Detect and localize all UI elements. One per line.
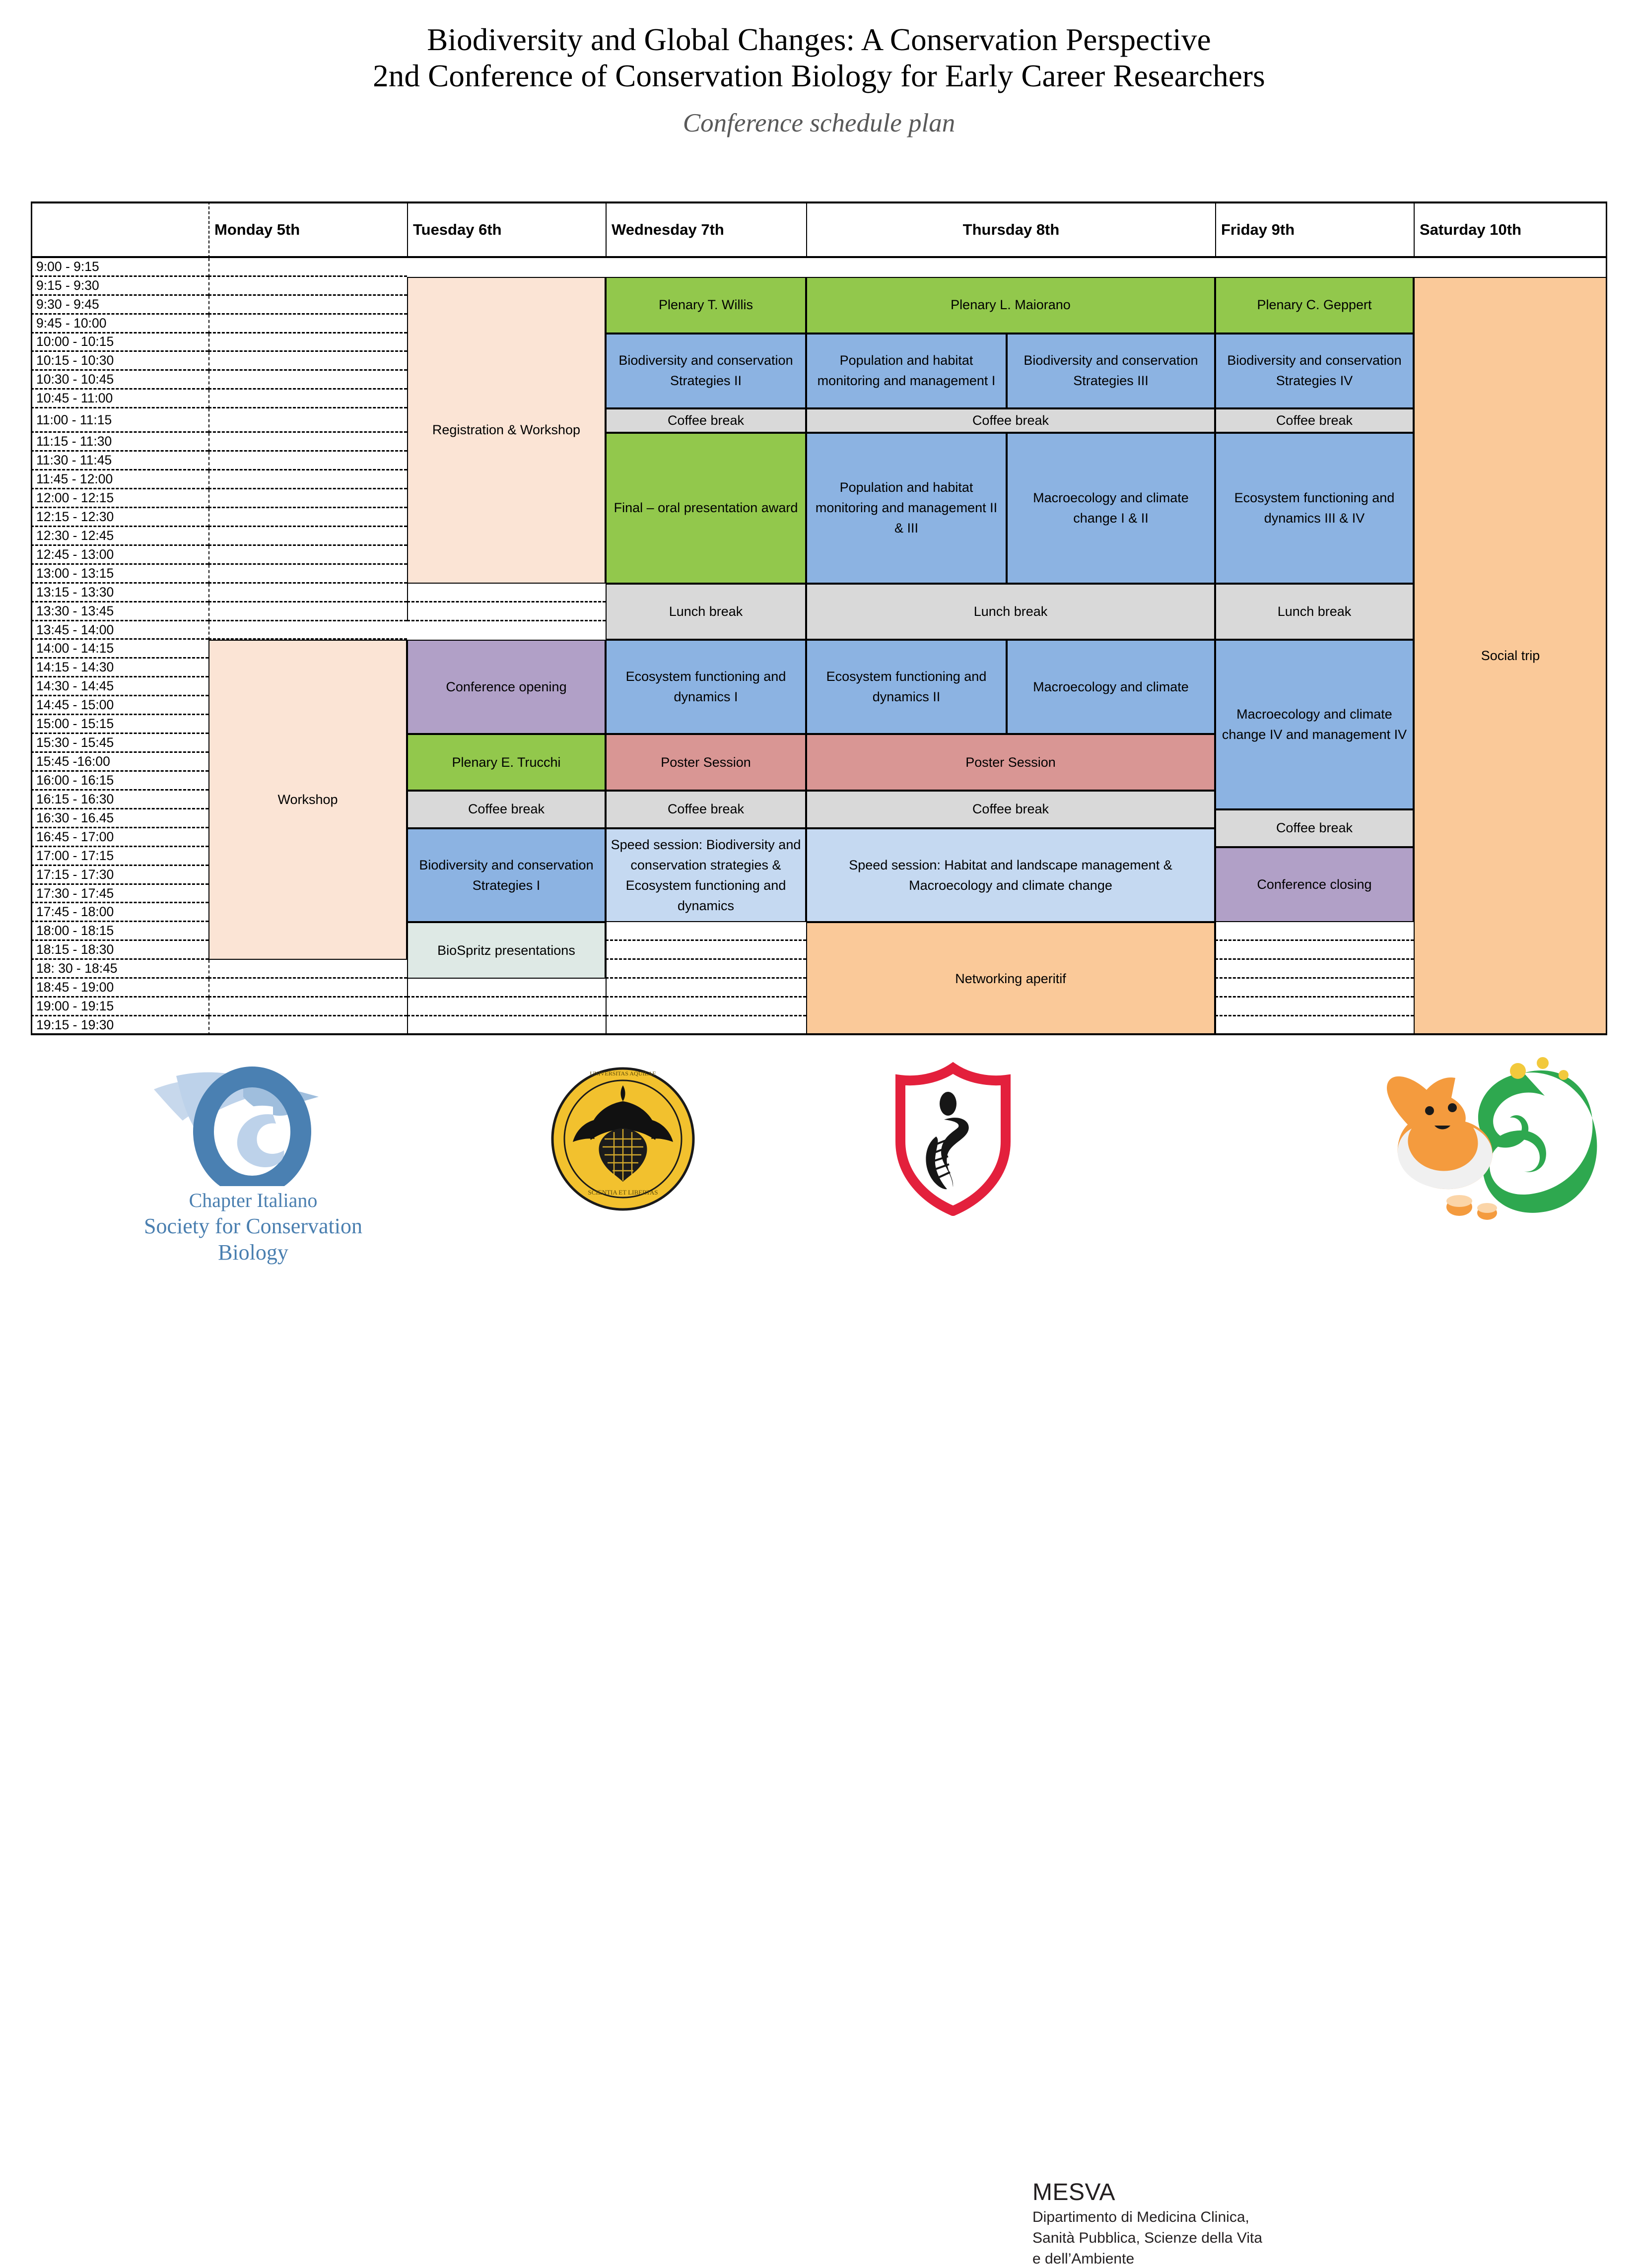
empty-slot: [208, 602, 407, 621]
scb-bird-icon: [124, 1062, 382, 1186]
event-label: Conference closing: [1257, 874, 1371, 895]
time-slot-label: 18:00 - 18:15: [36, 923, 114, 938]
time-slot-label: 17:15 - 17:30: [36, 867, 114, 882]
event-label: Coffee break: [1276, 818, 1353, 838]
event-thu-coffee-am[interactable]: Coffee break: [806, 408, 1215, 433]
event-label: Plenary T. Willis: [659, 295, 753, 315]
event-tuesday-biodiv-strategies-i[interactable]: Biodiversity and conservation Strategies…: [407, 828, 606, 923]
time-slot-label: 13:45 - 14:00: [36, 622, 114, 638]
time-slot-9: 11:00 - 11:15: [31, 408, 208, 433]
event-thu-macro-i-ii[interactable]: Macroecology and climate change I & II: [1007, 433, 1215, 583]
event-label: Ecosystem functioning and dynamics I: [610, 667, 802, 707]
time-slot-14: 12:15 - 12:30: [31, 508, 208, 527]
empty-slot: [407, 998, 606, 1016]
time-slot-31: 16:45 - 17:00: [31, 828, 208, 847]
event-label: Registration & Workshop: [432, 420, 580, 440]
empty-slot: [606, 922, 806, 941]
time-slot-16: 12:45 - 13:00: [31, 546, 208, 565]
empty-slot: [208, 408, 407, 433]
time-slot-28: 16:00 - 16:15: [31, 772, 208, 791]
empty-slot: [1215, 922, 1414, 941]
event-label: Ecosystem functioning and dynamics III &…: [1219, 488, 1410, 529]
event-label: Population and habitat monitoring and ma…: [810, 350, 1003, 391]
empty-slot: [1215, 979, 1414, 998]
mesva-logo: [888, 1062, 1018, 1218]
empty-slot: [208, 334, 407, 352]
time-slot-label: 13:00 - 13:15: [36, 566, 114, 581]
empty-slot: [208, 621, 407, 640]
empty-slot: [208, 527, 407, 546]
empty-slot: [606, 979, 806, 998]
event-wed-final-award[interactable]: Final – oral presentation award: [606, 433, 806, 583]
time-slot-label: 16:30 - 16.45: [36, 810, 114, 826]
event-fri-ecosystem-iii-iv[interactable]: Ecosystem functioning and dynamics III &…: [1215, 433, 1414, 583]
column-header-label: Tuesday 6th: [413, 221, 502, 239]
event-label: Social trip: [1481, 646, 1540, 666]
time-slot-24: 14:45 - 15:00: [31, 696, 208, 715]
event-monday-workshop[interactable]: Workshop: [208, 640, 407, 960]
event-tuesday-biospritz[interactable]: BioSpritz presentations: [407, 922, 606, 979]
time-slot-3: 9:30 - 9:45: [31, 296, 208, 315]
event-thu-lunch[interactable]: Lunch break: [806, 584, 1215, 640]
time-slot-27: 15:45 -16:00: [31, 753, 208, 772]
page-header: Biodiversity and Global Changes: A Conse…: [0, 0, 1638, 138]
event-thu-population-ii-iii[interactable]: Population and habitat monitoring and ma…: [806, 433, 1007, 583]
eagle-motto-bottom: SCIENTIA ET LIBERTAS: [588, 1189, 658, 1196]
time-slot-23: 14:30 - 14:45: [31, 677, 208, 696]
time-slot-25: 15:00 - 15:15: [31, 715, 208, 734]
time-slot-label: 12:15 - 12:30: [36, 509, 114, 525]
event-fri-coffee-pm[interactable]: Coffee break: [1215, 809, 1414, 847]
event-tuesday-conference-opening[interactable]: Conference opening: [407, 640, 606, 734]
column-header-label: Saturday 10th: [1420, 221, 1521, 239]
event-label: Poster Session: [965, 752, 1056, 773]
event-thu-ecosystem-ii[interactable]: Ecosystem functioning and dynamics II: [806, 640, 1007, 734]
event-label: Plenary E. Trucchi: [452, 752, 560, 773]
time-slot-label: 12:00 - 12:15: [36, 490, 114, 506]
empty-slot: [208, 315, 407, 334]
time-slot-label: 9:30 - 9:45: [36, 297, 99, 312]
event-fri-plenary-geppert[interactable]: Plenary C. Geppert: [1215, 277, 1414, 334]
empty-slot: [606, 960, 806, 979]
event-fri-coffee-am[interactable]: Coffee break: [1215, 408, 1414, 433]
time-slot-label: 17:00 - 17:15: [36, 848, 114, 864]
empty-slot: [208, 452, 407, 470]
empty-slot: [407, 1016, 606, 1035]
event-wed-plenary-willis[interactable]: Plenary T. Willis: [606, 277, 806, 334]
event-label: Speed session: Habitat and landscape man…: [810, 855, 1211, 896]
column-header-label: Friday 9th: [1221, 221, 1295, 239]
event-label: Speed session: Biodiversity and conserva…: [610, 835, 802, 916]
column-header-label: Monday 5th: [214, 221, 300, 239]
event-label: Biodiversity and conservation Strategies…: [610, 350, 802, 391]
empty-slot: [208, 470, 407, 489]
schedule-table: Monday 5thTuesday 6thWednesday 7thThursd…: [31, 201, 1607, 1035]
time-slot-1: 9:00 - 9:15: [31, 258, 208, 277]
empty-slot: [407, 584, 606, 602]
time-slot-7: 10:30 - 10:45: [31, 371, 208, 390]
empty-slot: [208, 508, 407, 527]
event-fri-lunch[interactable]: Lunch break: [1215, 584, 1414, 640]
schedule-corner-cell: [31, 201, 208, 258]
empty-slot: [1215, 998, 1414, 1016]
time-slot-40: 19:00 - 19:15: [31, 998, 208, 1016]
event-thu-coffee-pm[interactable]: Coffee break: [806, 791, 1215, 828]
event-label: Final – oral presentation award: [614, 498, 798, 518]
empty-slot: [208, 277, 407, 296]
time-slot-label: 9:15 - 9:30: [36, 278, 99, 293]
time-slot-label: 17:30 - 17:45: [36, 886, 114, 901]
event-wed-poster[interactable]: Poster Session: [606, 734, 806, 791]
empty-slot: [1215, 960, 1414, 979]
empty-slot: [208, 296, 407, 315]
event-wed-biodiv-strategies-ii[interactable]: Biodiversity and conservation Strategies…: [606, 334, 806, 409]
time-slot-label: 13:30 - 13:45: [36, 603, 114, 619]
time-slot-label: 17:45 - 18:00: [36, 904, 114, 920]
time-slot-20: 13:45 - 14:00: [31, 621, 208, 640]
time-slot-22: 14:15 - 14:30: [31, 659, 208, 677]
time-slot-label: 15:45 -16:00: [36, 754, 110, 769]
time-slot-label: 14:00 - 14:15: [36, 641, 114, 656]
time-slot-32: 17:00 - 17:15: [31, 847, 208, 866]
event-label: Coffee break: [668, 799, 744, 819]
event-wed-coffee-am[interactable]: Coffee break: [606, 408, 806, 433]
time-slot-label: 14:15 - 14:30: [36, 660, 114, 675]
empty-slot: [208, 258, 407, 277]
time-slot-label: 14:30 - 14:45: [36, 678, 114, 694]
time-slot-label: 13:15 - 13:30: [36, 585, 114, 600]
scb-logo-line-2: Society for Conservation Biology: [124, 1213, 382, 1266]
event-label: Networking aperitif: [955, 969, 1066, 989]
empty-slot: [1215, 941, 1414, 960]
event-label: Coffee break: [468, 799, 545, 819]
event-tuesday-plenary-trucchi[interactable]: Plenary E. Trucchi: [407, 734, 606, 791]
empty-slot: [407, 979, 606, 998]
empty-slot: [407, 602, 606, 621]
empty-slot: [208, 489, 407, 508]
empty-slot: [606, 1016, 806, 1035]
time-slot-label: 9:45 - 10:00: [36, 316, 106, 331]
time-slot-30: 16:30 - 16.45: [31, 809, 208, 828]
time-slot-41: 19:15 - 19:30: [31, 1016, 208, 1035]
empty-slot: [208, 565, 407, 584]
time-slot-label: 14:45 - 15:00: [36, 697, 114, 713]
sponsor-logos: Chapter Italiano Society for Conservatio…: [0, 1047, 1638, 1266]
time-slot-8: 10:45 - 11:00: [31, 390, 208, 408]
eagle-motto-top: UNIVERSITAS AQUILAE: [590, 1070, 656, 1077]
event-thu-macro-climate[interactable]: Macroecology and climate: [1007, 640, 1215, 734]
conference-schedule-page: Biodiversity and Global Changes: A Conse…: [0, 0, 1638, 1266]
time-slot-label: 19:15 - 19:30: [36, 1017, 114, 1033]
mesva-subtitle-line-3: e dell’Ambiente: [1032, 2250, 1262, 2268]
event-tuesday-registration[interactable]: Registration & Workshop: [407, 277, 606, 584]
time-slot-19: 13:30 - 13:45: [31, 602, 208, 621]
mesva-acronym: MESVA: [1032, 2179, 1262, 2206]
time-slot-label: 11:00 - 11:15: [36, 412, 112, 428]
scb-logo-text: Chapter Italiano Society for Conservatio…: [124, 1189, 382, 1266]
time-slot-39: 18:45 - 19:00: [31, 979, 208, 998]
column-header-label: Thursday 8th: [963, 221, 1060, 239]
conference-title-line-1: Biodiversity and Global Changes: A Conse…: [0, 22, 1638, 58]
event-label: Coffee break: [1276, 410, 1353, 431]
time-slot-21: 14:00 - 14:15: [31, 640, 208, 659]
event-fri-biodiv-strategies-iv[interactable]: Biodiversity and conservation Strategies…: [1215, 334, 1414, 409]
empty-slot: [1215, 1016, 1414, 1035]
time-slot-label: 16:15 - 16:30: [36, 792, 114, 807]
time-slot-29: 16:15 - 16:30: [31, 791, 208, 809]
time-slot-label: 16:45 - 17:00: [36, 829, 114, 845]
time-slot-label: 11:15 - 11:30: [36, 434, 112, 449]
event-sat-social-trip[interactable]: Social trip: [1414, 277, 1607, 1035]
time-slot-35: 17:45 - 18:00: [31, 903, 208, 922]
time-slot-label: 18:15 - 18:30: [36, 942, 114, 957]
time-slot-label: 10:00 - 10:15: [36, 334, 114, 349]
event-thu-population-i[interactable]: Population and habitat monitoring and ma…: [806, 334, 1007, 409]
empty-slot: [208, 998, 407, 1016]
time-slot-33: 17:15 - 17:30: [31, 866, 208, 885]
empty-slot: [208, 979, 407, 998]
empty-slot: [208, 371, 407, 390]
event-label: Biodiversity and conservation Strategies…: [411, 855, 602, 896]
time-slot-6: 10:15 - 10:30: [31, 352, 208, 371]
event-label: Plenary C. Geppert: [1257, 295, 1371, 315]
time-slot-12: 11:45 - 12:00: [31, 470, 208, 489]
mesva-shield-icon: [888, 1062, 1018, 1216]
event-wed-speed-session[interactable]: Speed session: Biodiversity and conserva…: [606, 828, 806, 923]
univaq-eagle-logo: SCIENTIA ET LIBERTAS UNIVERSITAS AQUILAE: [551, 1065, 695, 1216]
event-label: Lunch break: [669, 601, 743, 622]
eagle-seal-icon: SCIENTIA ET LIBERTAS UNIVERSITAS AQUILAE: [551, 1065, 695, 1213]
event-thu-networking[interactable]: Networking aperitif: [806, 922, 1215, 1035]
empty-slot: [208, 433, 407, 452]
fox-leaf-logo: [1360, 1052, 1598, 1243]
mesva-logo-text: MESVA Dipartimento di Medicina Clinica, …: [1032, 2179, 1262, 2268]
conference-title-line-2: 2nd Conference of Conservation Biology f…: [0, 58, 1638, 94]
scb-logo-line-1: Chapter Italiano: [124, 1189, 382, 1213]
time-slot-label: 10:45 - 11:00: [36, 391, 113, 406]
event-fri-macro-iv[interactable]: Macroecology and climate change IV and m…: [1215, 640, 1414, 809]
mesva-subtitle-line-2: Sanità Pubblica, Scienze della Vita: [1032, 2229, 1262, 2248]
time-slot-label: 12:30 - 12:45: [36, 528, 114, 543]
event-label: Biodiversity and conservation Strategies…: [1011, 350, 1211, 391]
time-slot-38: 18: 30 - 18:45: [31, 960, 208, 979]
page-subtitle: Conference schedule plan: [0, 108, 1638, 138]
event-label: Lunch break: [974, 601, 1048, 622]
event-label: Macroecology and climate change I & II: [1011, 488, 1211, 529]
column-header-thursday: Thursday 8th: [806, 201, 1215, 258]
empty-slot: [606, 998, 806, 1016]
time-slot-18: 13:15 - 13:30: [31, 584, 208, 602]
time-slot-label: 11:45 - 12:00: [36, 471, 113, 487]
time-slot-label: 18:45 - 19:00: [36, 980, 114, 995]
event-wed-coffee-pm[interactable]: Coffee break: [606, 791, 806, 828]
event-wed-ecosystem-i[interactable]: Ecosystem functioning and dynamics I: [606, 640, 806, 734]
event-thu-biodiv-strategies-iii[interactable]: Biodiversity and conservation Strategies…: [1007, 334, 1215, 409]
event-wed-lunch[interactable]: Lunch break: [606, 584, 806, 640]
event-thu-speed-session[interactable]: Speed session: Habitat and landscape man…: [806, 828, 1215, 923]
column-header-label: Wednesday 7th: [612, 221, 724, 239]
empty-slot: [208, 1016, 407, 1035]
time-slot-36: 18:00 - 18:15: [31, 922, 208, 941]
time-slot-26: 15:30 - 15:45: [31, 734, 208, 753]
empty-slot: [208, 584, 407, 602]
time-slot-34: 17:30 - 17:45: [31, 885, 208, 904]
event-label: Plenary L. Maiorano: [951, 295, 1071, 315]
time-slot-10: 11:15 - 11:30: [31, 433, 208, 452]
time-slot-label: 10:15 - 10:30: [36, 353, 114, 368]
time-slot-label: 19:00 - 19:15: [36, 999, 114, 1014]
time-slot-11: 11:30 - 11:45: [31, 452, 208, 470]
time-slot-2: 9:15 - 9:30: [31, 277, 208, 296]
event-label: Coffee break: [972, 410, 1049, 431]
time-slot-17: 13:00 - 13:15: [31, 565, 208, 584]
event-label: Coffee break: [668, 410, 744, 431]
event-label: Workshop: [277, 790, 338, 810]
event-label: Poster Session: [661, 752, 751, 773]
empty-slot: [208, 390, 407, 408]
time-slot-label: 15:30 - 15:45: [36, 735, 114, 750]
time-slot-label: 10:30 - 10:45: [36, 372, 114, 387]
time-slot-label: 9:00 - 9:15: [36, 259, 99, 274]
time-slot-label: 18: 30 - 18:45: [36, 961, 118, 976]
time-slot-label: 16:00 - 16:15: [36, 773, 114, 788]
event-label: Conference opening: [446, 677, 566, 697]
mesva-subtitle-line-1: Dipartimento di Medicina Clinica,: [1032, 2208, 1262, 2227]
time-slot-15: 12:30 - 12:45: [31, 527, 208, 546]
column-header-tuesday: Tuesday 6th: [407, 201, 606, 258]
column-header-saturday: Saturday 10th: [1414, 201, 1607, 258]
event-label: Coffee break: [972, 799, 1049, 819]
empty-slot: [208, 352, 407, 371]
event-fri-closing[interactable]: Conference closing: [1215, 847, 1414, 923]
column-header-wednesday: Wednesday 7th: [606, 201, 806, 258]
event-label: Macroecology and climate: [1033, 677, 1189, 697]
event-label: Macroecology and climate change IV and m…: [1219, 704, 1410, 745]
event-label: Biodiversity and conservation Strategies…: [1219, 350, 1410, 391]
event-label: Lunch break: [1278, 601, 1352, 622]
time-slot-label: 15:00 - 15:15: [36, 716, 114, 732]
time-slot-4: 9:45 - 10:00: [31, 315, 208, 334]
empty-slot: [208, 960, 407, 979]
event-label: Ecosystem functioning and dynamics II: [810, 667, 1003, 707]
scb-italy-logo: Chapter Italiano Society for Conservatio…: [124, 1062, 382, 1266]
event-thu-plenary-maiorano[interactable]: Plenary L. Maiorano: [806, 277, 1215, 334]
empty-slot: [606, 941, 806, 960]
time-slot-label: 12:45 - 13:00: [36, 547, 114, 562]
empty-slot: [208, 546, 407, 565]
event-label: Population and habitat monitoring and ma…: [810, 477, 1003, 538]
event-label: BioSpritz presentations: [437, 940, 575, 961]
time-slot-5: 10:00 - 10:15: [31, 334, 208, 352]
fox-leaf-icon: [1360, 1052, 1598, 1241]
event-tuesday-coffee-pm[interactable]: Coffee break: [407, 791, 606, 828]
event-thu-poster[interactable]: Poster Session: [806, 734, 1215, 791]
time-slot-37: 18:15 - 18:30: [31, 941, 208, 960]
column-header-friday: Friday 9th: [1215, 201, 1414, 258]
time-slot-label: 11:30 - 11:45: [36, 453, 112, 468]
schedule-grid: Monday 5thTuesday 6thWednesday 7thThursd…: [31, 201, 1607, 1035]
column-header-monday: Monday 5th: [208, 201, 407, 258]
time-slot-13: 12:00 - 12:15: [31, 489, 208, 508]
